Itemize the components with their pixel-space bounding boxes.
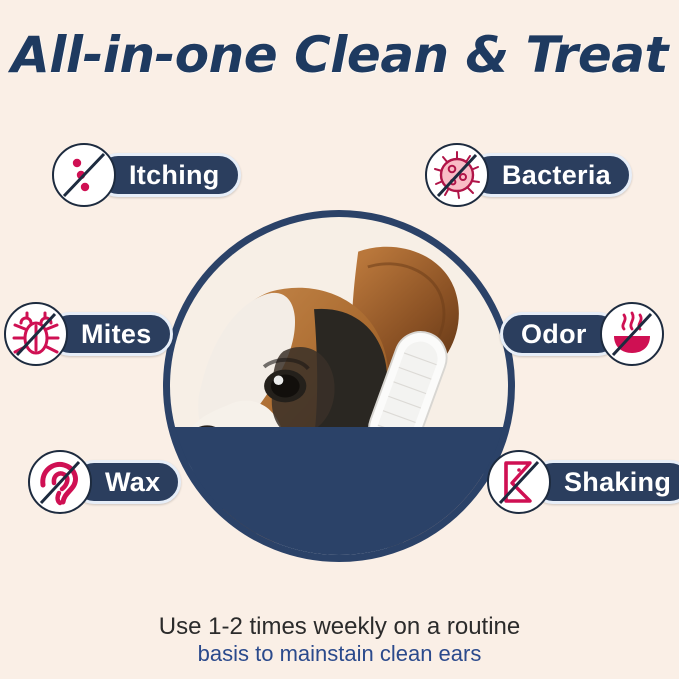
feature-badge-wax[interactable]: Wax (28, 450, 181, 514)
badge-label: Itching (96, 153, 241, 197)
photo-navy-fill (170, 427, 508, 555)
dog-ear-cleaning-photo (170, 217, 508, 555)
usage-caption-line2: basis to mainstain clean ears (0, 641, 679, 668)
badge-label: Shaking (531, 460, 679, 504)
feature-badge-shaking[interactable]: Shaking (487, 450, 679, 514)
feature-badge-itching[interactable]: Itching (52, 143, 241, 207)
wax-no-sign-icon (28, 450, 92, 514)
feature-badge-mites[interactable]: Mites (4, 302, 173, 366)
shaking-no-sign-icon (487, 450, 551, 514)
odor-no-sign-icon (600, 302, 664, 366)
usage-caption-line1: Use 1-2 times weekly on a routine (0, 612, 679, 641)
bacteria-no-sign-icon (425, 143, 489, 207)
badge-label: Bacteria (469, 153, 632, 197)
mites-no-sign-icon (4, 302, 68, 366)
itching-no-sign-icon (52, 143, 116, 207)
usage-caption: Use 1-2 times weekly on a routine basis … (0, 612, 679, 668)
feature-badge-bacteria[interactable]: Bacteria (425, 143, 632, 207)
page-title: All-in-one Clean & Treat (0, 26, 679, 84)
feature-badge-odor[interactable]: Odor (500, 302, 664, 366)
center-photo-circle (163, 210, 515, 562)
infographic-root: All-in-one Clean & Treat (0, 0, 679, 679)
